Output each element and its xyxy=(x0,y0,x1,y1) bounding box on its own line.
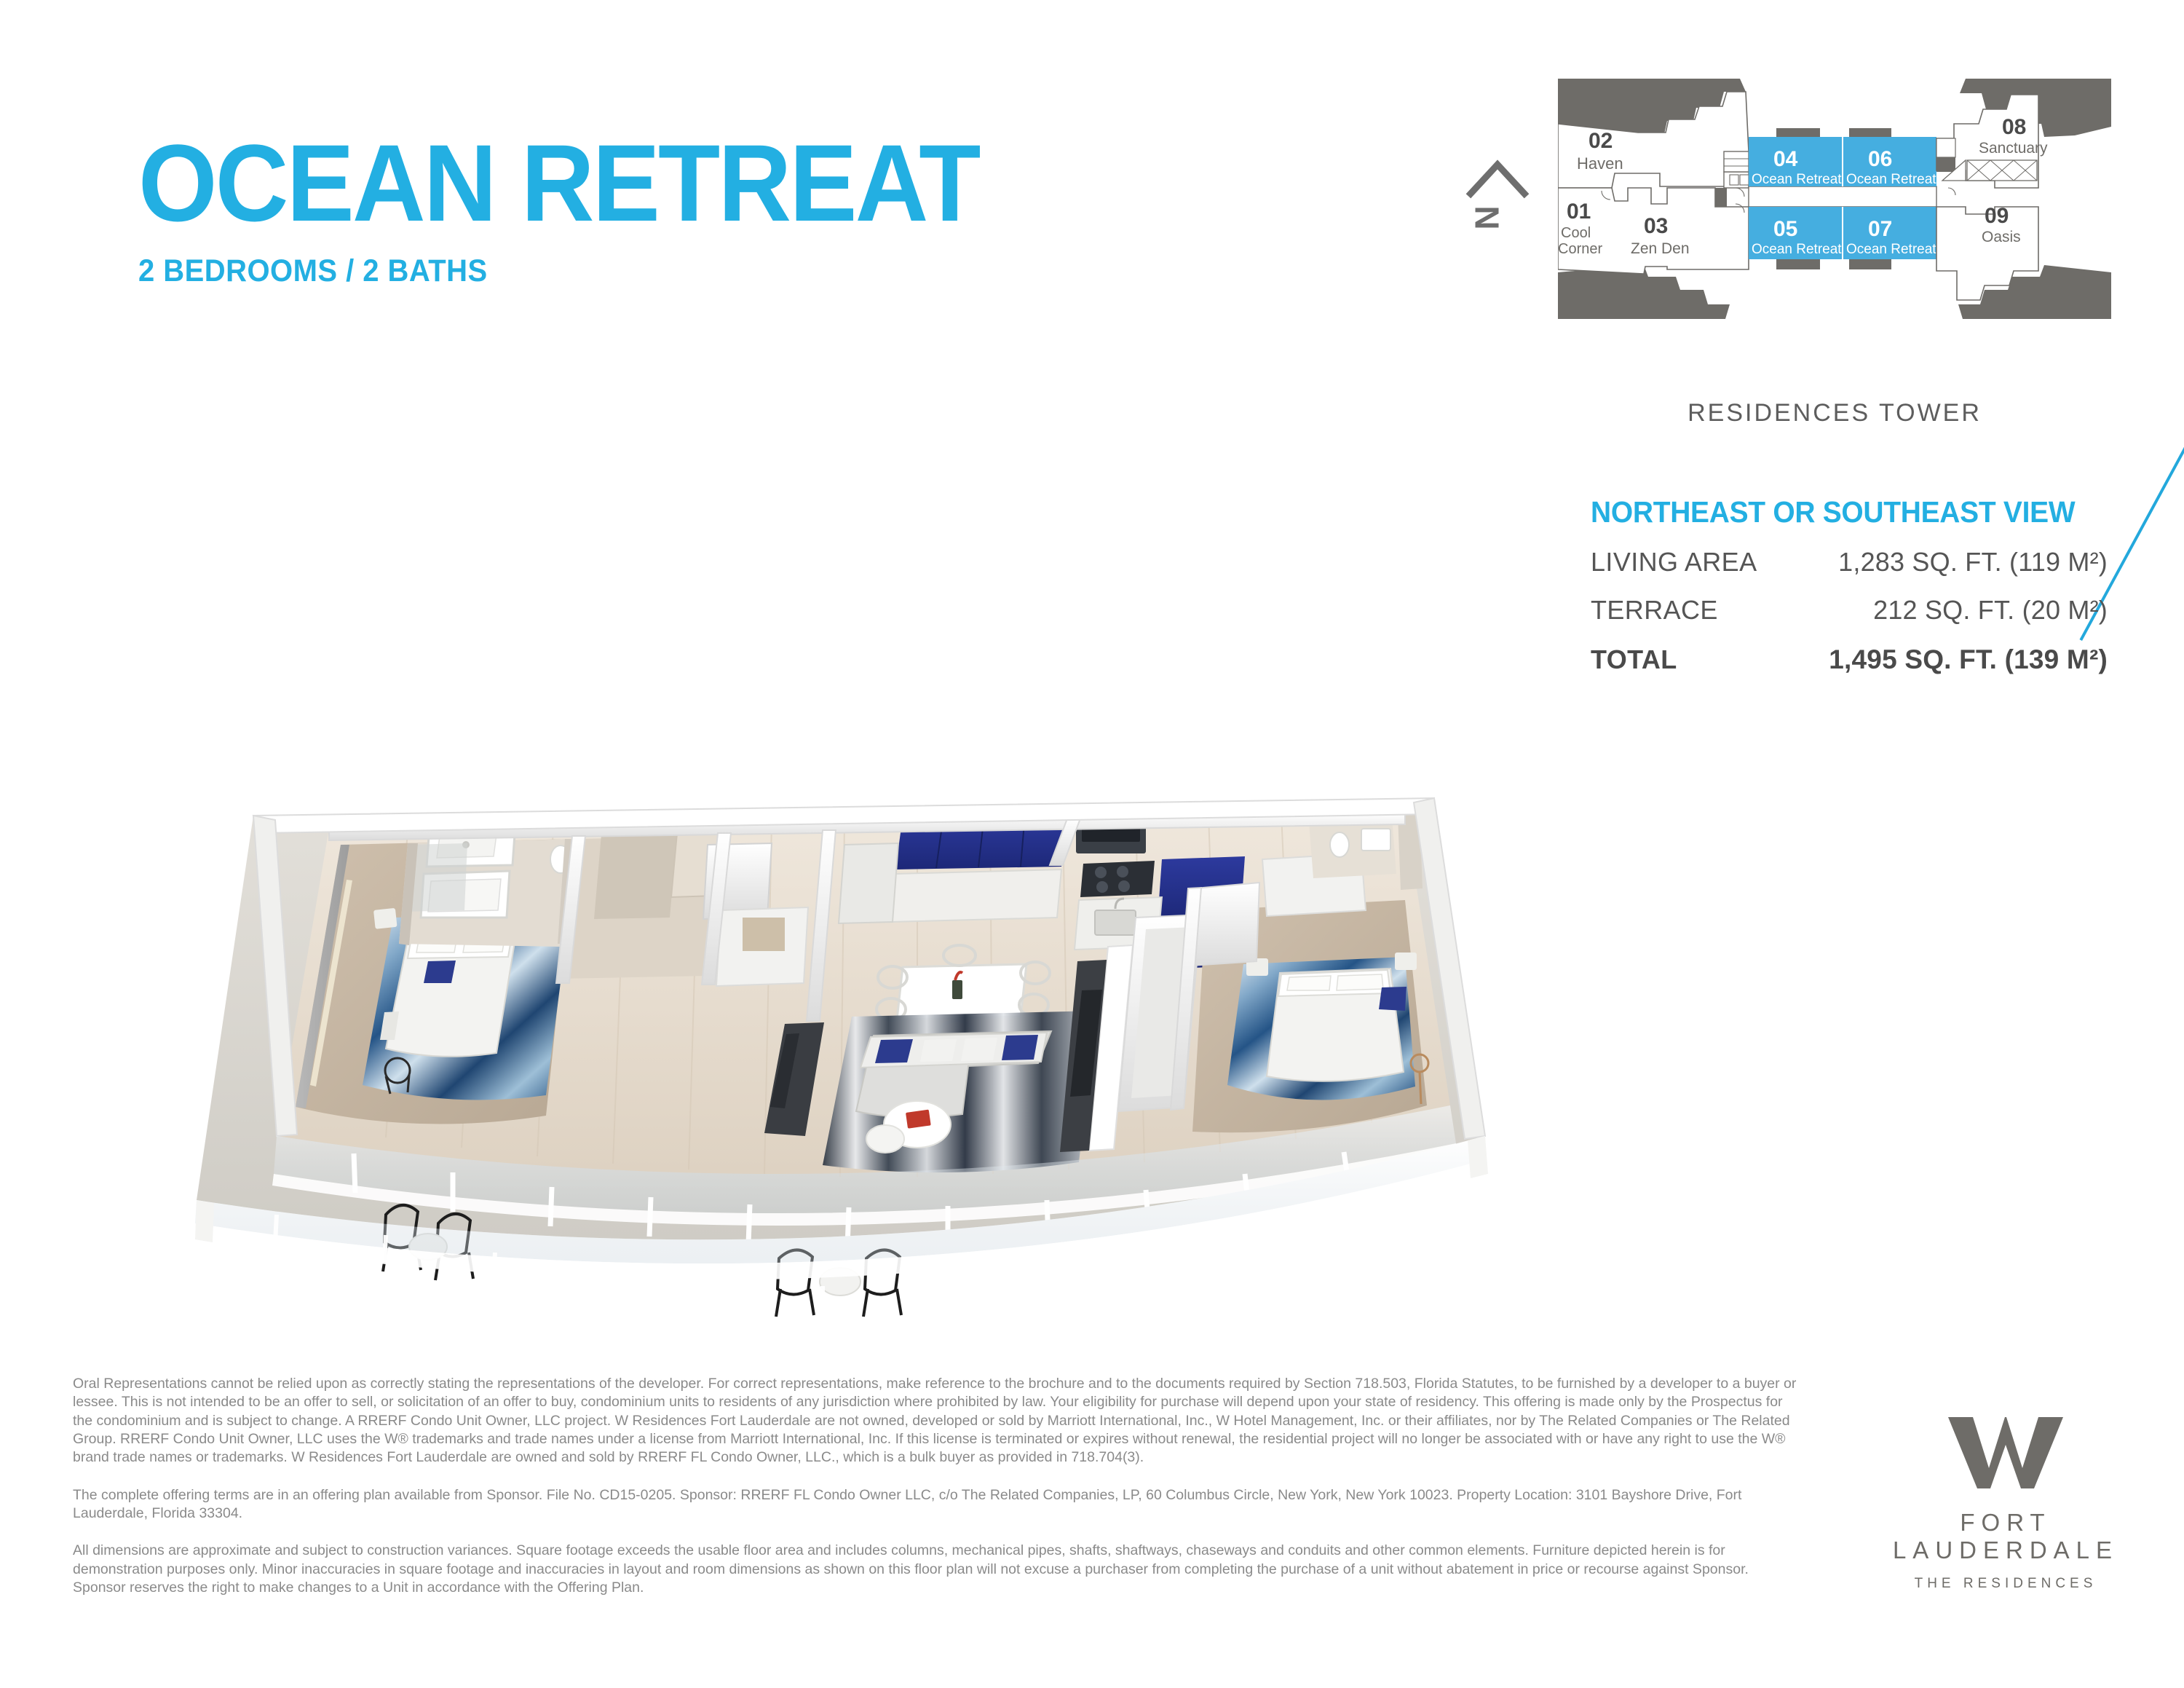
keyplan-unit-number-04: 04 xyxy=(1773,147,1798,171)
keyplan-unit-name-06: Ocean Retreat xyxy=(1846,172,1936,187)
north-label: N xyxy=(1468,205,1507,229)
keyplan-right-wing: 08 Sanctuary 09 Oasis xyxy=(1936,95,2048,300)
keyplan-unit-number-05: 05 xyxy=(1773,217,1797,241)
keyplan-unit-name-01: Cool xyxy=(1561,225,1591,241)
header: OCEAN RETREAT 2 BEDROOMS / 2 BATHS xyxy=(138,128,1042,289)
keyplan-unit-name-04: Ocean Retreat xyxy=(1752,172,1842,187)
keyplan-diagram: 02 Haven 01 Cool Corner 03 Zen Den 04 Oc… xyxy=(1558,79,2111,319)
keyplan-unit-number-07: 07 xyxy=(1868,217,1892,241)
spec-label: LIVING AREA xyxy=(1591,547,1816,577)
spec-value: 1,495 SQ. FT. (139 M²) xyxy=(1816,644,2108,675)
keyplan-unit-name-02: Haven xyxy=(1577,154,1623,173)
keyplan-unit-name-03: Zen Den xyxy=(1631,240,1690,257)
legal-paragraph-1: Oral Representations cannot be relied up… xyxy=(73,1375,1798,1467)
north-arrow: N xyxy=(1465,153,1530,248)
page-title: OCEAN RETREAT xyxy=(138,128,979,237)
keyplan-unit-number-01: 01 xyxy=(1567,200,1591,224)
brand-logo: FORT LAUDERDALE THE RESIDENCES xyxy=(1849,1413,2162,1592)
north-chevron-icon xyxy=(1465,153,1530,248)
keyplan-unit-name-07: Ocean Retreat xyxy=(1846,242,1936,257)
spec-row-total: TOTAL 1,495 SQ. FT. (139 M²) xyxy=(1591,644,2115,675)
w-mark-icon xyxy=(1944,1413,2068,1493)
keyplan-unit-number-08: 08 xyxy=(2002,115,2026,139)
spec-label: TERRACE xyxy=(1591,595,1816,626)
keyplan-unit-number-06: 06 xyxy=(1868,147,1892,171)
keyplan-unit-name-05: Ocean Retreat xyxy=(1752,242,1842,257)
specs-heading: NORTHEAST OR SOUTHEAST VIEW xyxy=(1591,495,2089,529)
spec-row-living-area: LIVING AREA 1,283 SQ. FT. (119 M²) xyxy=(1591,547,2115,577)
page-subtitle: 2 BEDROOMS / 2 BATHS xyxy=(138,253,979,289)
spec-value: 212 SQ. FT. (20 M²) xyxy=(1816,595,2108,626)
entry-corridor xyxy=(561,832,808,986)
spec-label: TOTAL xyxy=(1591,644,1816,675)
keyplan-unit-number-02: 02 xyxy=(1588,129,1613,153)
specs-panel: NORTHEAST OR SOUTHEAST VIEW LIVING AREA … xyxy=(1591,495,2115,675)
keyplan-unit-name-08: Sanctuary xyxy=(1979,140,2048,157)
svg-text:Corner: Corner xyxy=(1558,241,1602,257)
keyplan-unit-name-09: Oasis xyxy=(1982,229,2021,245)
logo-city: FORT LAUDERDALE xyxy=(1849,1509,2162,1564)
legal-paragraph-2: The complete offering terms are in an of… xyxy=(73,1486,1798,1523)
keyplan-unit-number-09: 09 xyxy=(1985,204,2009,228)
spec-value: 1,283 SQ. FT. (119 M²) xyxy=(1816,547,2108,577)
logo-subtitle: THE RESIDENCES xyxy=(1849,1576,2162,1592)
keyplan-unit-number-03: 03 xyxy=(1644,214,1668,238)
keyplan-caption: RESIDENCES TOWER xyxy=(1558,399,2111,427)
bed-secondary xyxy=(1267,969,1406,1081)
floorplan-render xyxy=(167,408,1529,1340)
legal-paragraph-3: All dimensions are approximate and subje… xyxy=(73,1542,1798,1597)
spec-row-terrace: TERRACE 212 SQ. FT. (20 M²) xyxy=(1591,595,2115,626)
legal-disclaimers: Oral Representations cannot be relied up… xyxy=(73,1375,1798,1597)
